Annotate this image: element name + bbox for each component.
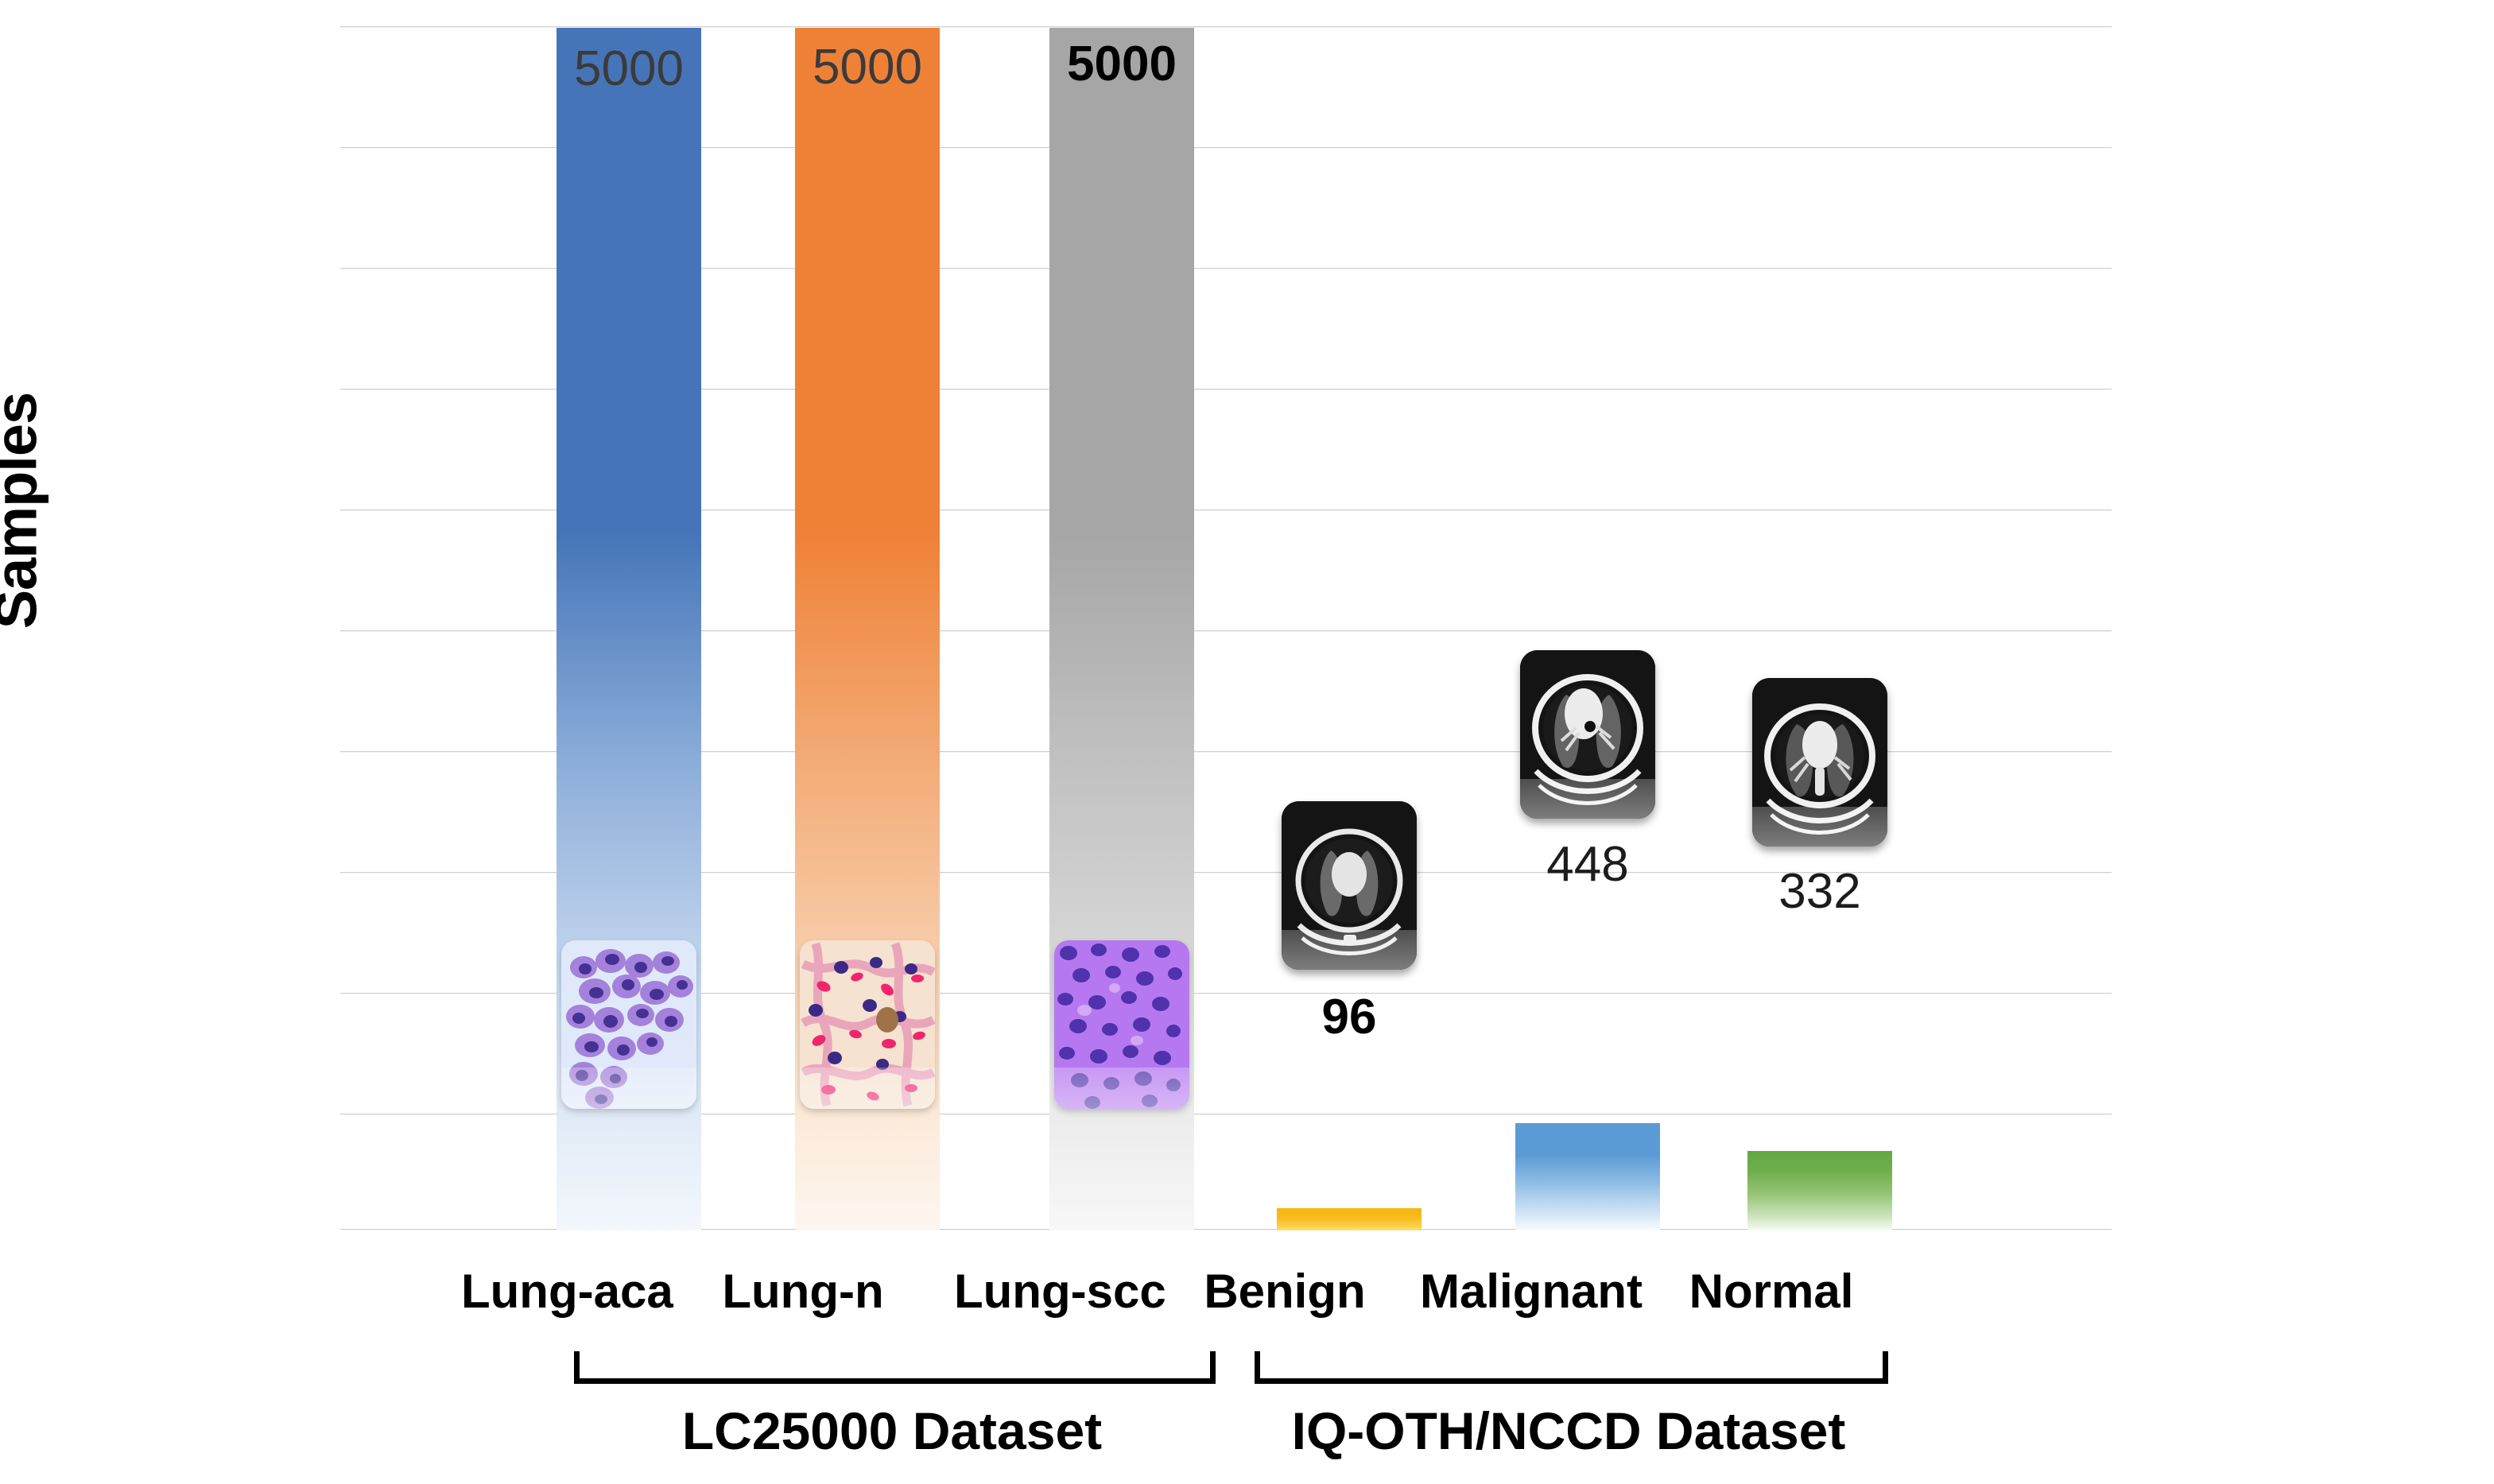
bar-value-normal: 332 bbox=[1716, 863, 1923, 920]
chart-figure: Samples 5000 bbox=[0, 0, 2494, 1484]
bar-value-benign: 96 bbox=[1246, 989, 1453, 1045]
histopathology-thumbnail-lung-scc bbox=[1054, 940, 1189, 1109]
group-bracket-iq-oth-nccd bbox=[1255, 1351, 1888, 1384]
ct-scan-thumbnail-malignant bbox=[1520, 650, 1655, 819]
y-axis-title: Samples bbox=[0, 289, 50, 734]
histopathology-thumbnail-lung-n bbox=[800, 940, 935, 1109]
bar-value-malignant: 448 bbox=[1484, 836, 1691, 893]
bar-normal[interactable] bbox=[1747, 1151, 1892, 1230]
bar-value-lung-scc: 5000 bbox=[1049, 36, 1194, 92]
histopathology-thumbnail-lung-aca bbox=[561, 940, 696, 1109]
bar-value-lung-aca: 5000 bbox=[557, 41, 701, 97]
plot-area: 5000 bbox=[340, 22, 2112, 1230]
ct-scan-thumbnail-normal bbox=[1752, 678, 1887, 847]
bar-value-lung-n: 5000 bbox=[795, 39, 940, 95]
group-label-iq-oth-nccd: IQ-OTH/NCCD Dataset bbox=[1255, 1401, 1883, 1461]
category-label-lung-aca: Lung-aca bbox=[461, 1264, 668, 1319]
bar-benign[interactable] bbox=[1277, 1208, 1422, 1230]
group-bracket-lc25000 bbox=[574, 1351, 1216, 1384]
group-label-lc25000: LC25000 Dataset bbox=[574, 1401, 1210, 1461]
category-label-benign: Benign bbox=[1181, 1264, 1388, 1319]
ct-scan-thumbnail-benign bbox=[1282, 801, 1417, 970]
category-label-malignant: Malignant bbox=[1388, 1264, 1674, 1319]
category-label-lung-n: Lung-n bbox=[700, 1264, 906, 1319]
category-label-normal: Normal bbox=[1652, 1264, 1891, 1319]
bar-malignant[interactable] bbox=[1515, 1123, 1660, 1230]
category-label-lung-scc: Lung-scc bbox=[954, 1264, 1161, 1319]
